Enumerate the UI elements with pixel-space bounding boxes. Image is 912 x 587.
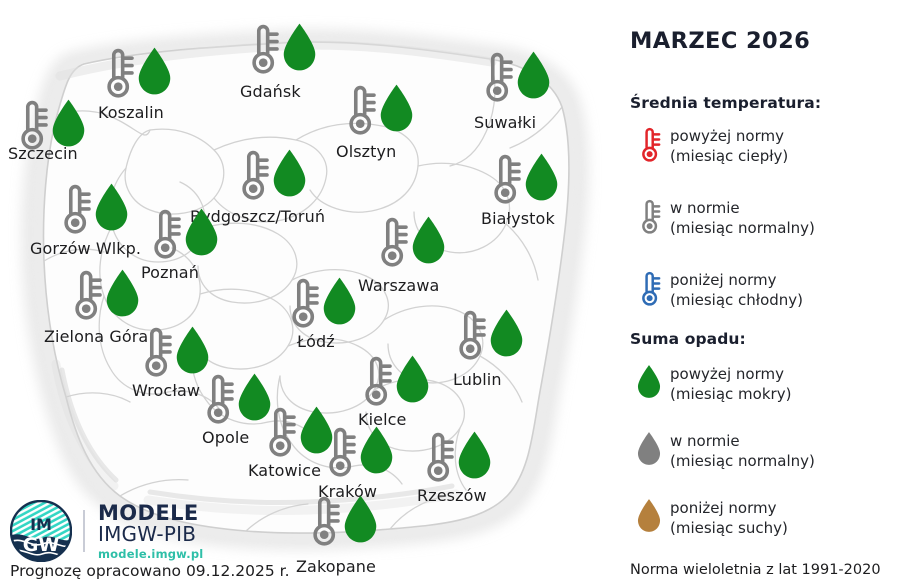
legend-item-text: poniżej normy(miesiąc suchy) [670, 497, 788, 539]
thermometer-icon [262, 405, 298, 460]
station-icons [306, 494, 379, 549]
station-icons [342, 83, 415, 138]
legend-item-temperature-0: powyżej normy(miesiąc ciepły) [628, 125, 788, 167]
water-drop-icon [636, 498, 662, 533]
imgw-logo-icon: IM GW [10, 500, 72, 562]
station-icons [374, 215, 447, 270]
thermometer-icon [57, 182, 93, 237]
legend-item-line2: (miesiąc ciepły) [670, 146, 788, 166]
water-drop-icon [636, 431, 662, 466]
city-label: Warszawa [358, 276, 439, 295]
water-drop-icon [488, 308, 525, 358]
logo-divider [83, 510, 85, 552]
legend-panel: MARZEC 2026 Średnia temperatura: powyżej… [628, 0, 912, 587]
legend-item-line1: powyżej normy [670, 364, 791, 384]
thermometer-icon [100, 46, 136, 101]
city-label: Opole [202, 428, 249, 447]
station-icons [285, 276, 358, 331]
thermometer-icon [420, 430, 456, 485]
legend-item-text: powyżej normy(miesiąc ciepły) [670, 125, 788, 167]
station-icons [147, 207, 220, 262]
city-label: Suwałki [474, 113, 536, 132]
thermometer-icon [285, 276, 321, 331]
water-drop-icon [104, 268, 141, 318]
thermometer-icon [306, 494, 342, 549]
legend-item-line1: poniżej normy [670, 498, 788, 518]
city-label: Gorzów Wlkp. [30, 239, 141, 258]
legend-item-precipitation-0: powyżej normy(miesiąc mokry) [628, 363, 791, 405]
water-drop-icon [394, 354, 431, 404]
infographic-root: SzczecinKoszalinGdańskOlsztynSuwałkiBiał… [0, 0, 912, 587]
thermometer-icon [637, 270, 662, 308]
city-label: Katowice [248, 461, 321, 480]
city-label: Gdańsk [240, 82, 301, 101]
imgw-logo-block: IM GW MODELE IMGW-PIB modele.imgw.pl [10, 500, 203, 562]
city-label: Rzeszów [417, 486, 487, 505]
logo-line-modele: MODELE [98, 502, 203, 524]
water-drop-icon [321, 276, 358, 326]
water-drop-icon [50, 98, 87, 148]
page-title: MARZEC 2026 [630, 28, 810, 54]
legend-item-line2: (miesiąc normalny) [670, 451, 815, 471]
legend-item-line2: (miesiąc suchy) [670, 518, 788, 538]
station-icons [452, 308, 525, 363]
logo-initials-top: IM [30, 515, 52, 534]
station-icons [245, 22, 318, 77]
station-icons [487, 152, 560, 207]
station-icons [57, 182, 130, 237]
city-label: Koszalin [98, 103, 164, 122]
forecast-date-text: Prognozę opracowano 09.12.2025 r. [10, 562, 290, 580]
legend-item-text: w normie(miesiąc normalny) [670, 197, 815, 239]
legend-item-line1: poniżej normy [670, 270, 803, 290]
legend-item-line1: w normie [670, 431, 815, 451]
legend-item-line2: (miesiąc chłodny) [670, 290, 803, 310]
water-drop-icon [136, 46, 173, 96]
logo-wordmark: MODELE IMGW-PIB modele.imgw.pl [98, 502, 203, 561]
thermometer-icon [487, 152, 523, 207]
city-label: Białystok [481, 209, 555, 228]
legend-item-temperature-1: w normie(miesiąc normalny) [628, 197, 815, 239]
water-drop-icon [636, 364, 662, 399]
station-icons [358, 354, 431, 409]
water-drop-icon [358, 425, 395, 475]
thermometer-icon [200, 372, 236, 427]
water-drop-icon-wrapper [628, 363, 670, 399]
city-label: Zielona Góra [44, 327, 148, 346]
water-drop-icon [378, 83, 415, 133]
thermometer-icon [637, 126, 662, 164]
water-drop-icon [523, 152, 560, 202]
thermometer-icon [358, 354, 394, 409]
legend-item-line2: (miesiąc normalny) [670, 218, 815, 238]
legend-heading-temperature: Średnia temperatura: [630, 94, 821, 112]
thermometer-icon [374, 215, 410, 270]
logo-line-url[interactable]: modele.imgw.pl [98, 548, 203, 560]
legend-item-temperature-2: poniżej normy(miesiąc chłodny) [628, 269, 803, 311]
legend-heading-precipitation: Suma opadu: [630, 330, 746, 348]
water-drop-icon [515, 50, 552, 100]
thermometer-icon [68, 268, 104, 323]
water-drop-icon-wrapper [628, 430, 670, 466]
station-icons [420, 430, 493, 485]
thermometer-icon-wrapper [628, 125, 670, 164]
thermometer-icon [245, 22, 281, 77]
water-drop-icon [93, 182, 130, 232]
city-label: Lublin [453, 370, 502, 389]
city-label: Wrocław [132, 381, 200, 400]
thermometer-icon [479, 50, 515, 105]
thermometer-icon [342, 83, 378, 138]
legend-item-line1: powyżej normy [670, 126, 788, 146]
station-icons [68, 268, 141, 323]
thermometer-icon-wrapper [628, 197, 670, 236]
legend-footnote: Norma wieloletnia z lat 1991-2020 [630, 562, 881, 578]
legend-item-precipitation-1: w normie(miesiąc normalny) [628, 430, 815, 472]
water-drop-icon [183, 207, 220, 257]
legend-item-line2: (miesiąc mokry) [670, 384, 791, 404]
thermometer-icon [637, 198, 662, 236]
water-drop-icon [174, 325, 211, 375]
thermometer-icon [452, 308, 488, 363]
station-icons [100, 46, 173, 101]
legend-item-precipitation-2: poniżej normy(miesiąc suchy) [628, 497, 788, 539]
water-drop-icon [410, 215, 447, 265]
legend-item-line1: w normie [670, 198, 815, 218]
water-drop-icon [342, 494, 379, 544]
thermometer-icon [235, 148, 271, 203]
city-label: Olsztyn [336, 142, 396, 161]
thermometer-icon [322, 425, 358, 480]
station-icons [235, 148, 308, 203]
water-drop-icon [271, 148, 308, 198]
logo-initials-bottom: GW [23, 534, 60, 556]
city-label: Łódź [297, 332, 335, 351]
poland-map-panel: SzczecinKoszalinGdańskOlsztynSuwałkiBiał… [0, 0, 620, 587]
thermometer-icon [138, 325, 174, 380]
thermometer-icon-wrapper [628, 269, 670, 308]
legend-item-text: poniżej normy(miesiąc chłodny) [670, 269, 803, 311]
station-icons [479, 50, 552, 105]
water-drop-icon-wrapper [628, 497, 670, 533]
legend-item-text: powyżej normy(miesiąc mokry) [670, 363, 791, 405]
station-icons [322, 425, 395, 480]
city-label: Szczecin [8, 144, 78, 163]
city-label: Zakopane [296, 557, 376, 576]
thermometer-icon [147, 207, 183, 262]
city-label: Poznań [141, 263, 199, 282]
logo-line-imgw-pib: IMGW-PIB [98, 524, 203, 545]
water-drop-icon [456, 430, 493, 480]
legend-item-text: w normie(miesiąc normalny) [670, 430, 815, 472]
water-drop-icon [281, 22, 318, 72]
